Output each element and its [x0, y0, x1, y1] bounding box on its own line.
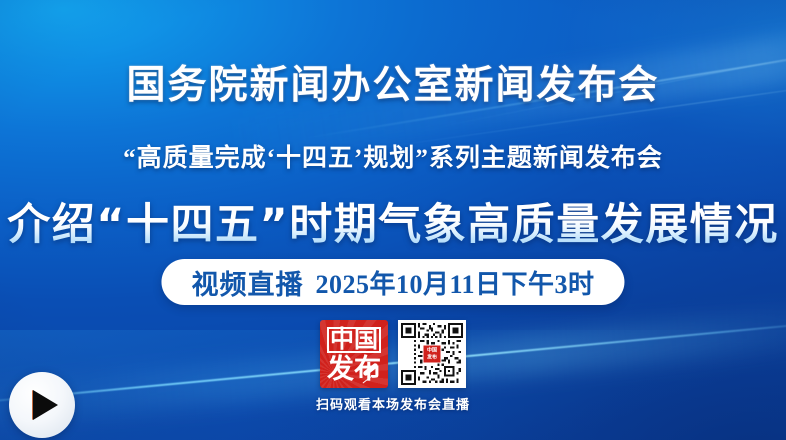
live-stream-label: 视频直播 [191, 263, 303, 302]
qr-center-line-1: 中国 [427, 347, 437, 354]
headline-text: 介绍“十四五”时期气象高质量发展情况 [7, 200, 779, 250]
qr-row: 中国 发布 [320, 320, 466, 388]
page-title: 国务院新闻办公室新闻发布会 [0, 54, 786, 110]
headline-container: 介绍“十四五”时期气象高质量发展情况 [0, 190, 786, 246]
qr-code-icon[interactable]: 中国 发布 [398, 320, 466, 388]
qr-center-line-2: 发布 [427, 354, 437, 361]
play-triangle-icon [33, 390, 58, 420]
play-button[interactable] [9, 372, 75, 438]
qr-caption: 扫码观看本场发布会直播 [316, 394, 470, 413]
qr-section: 中国 发布 [316, 320, 470, 413]
schedule-badge: 视频直播 2025年10月11日下午3时 [161, 259, 624, 305]
logo-line-2: 发布 [320, 355, 388, 383]
logo-line-1: 中国 [320, 327, 388, 353]
live-stream-banner: 国务院新闻办公室新闻发布会 “高质量完成‘十四五’规划”系列主题新闻发布会 介绍… [0, 0, 786, 440]
china-release-logo-icon: 中国 发布 [320, 320, 388, 388]
broadcast-datetime: 2025年10月11日下午3时 [315, 264, 594, 301]
qr-center-logo-icon: 中国 发布 [422, 345, 441, 364]
series-subtitle: “高质量完成‘十四五’规划”系列主题新闻发布会 [0, 138, 786, 174]
logo-line-1-text: 中国 [327, 327, 381, 353]
banner-content: 国务院新闻办公室新闻发布会 “高质量完成‘十四五’规划”系列主题新闻发布会 介绍… [0, 0, 786, 440]
